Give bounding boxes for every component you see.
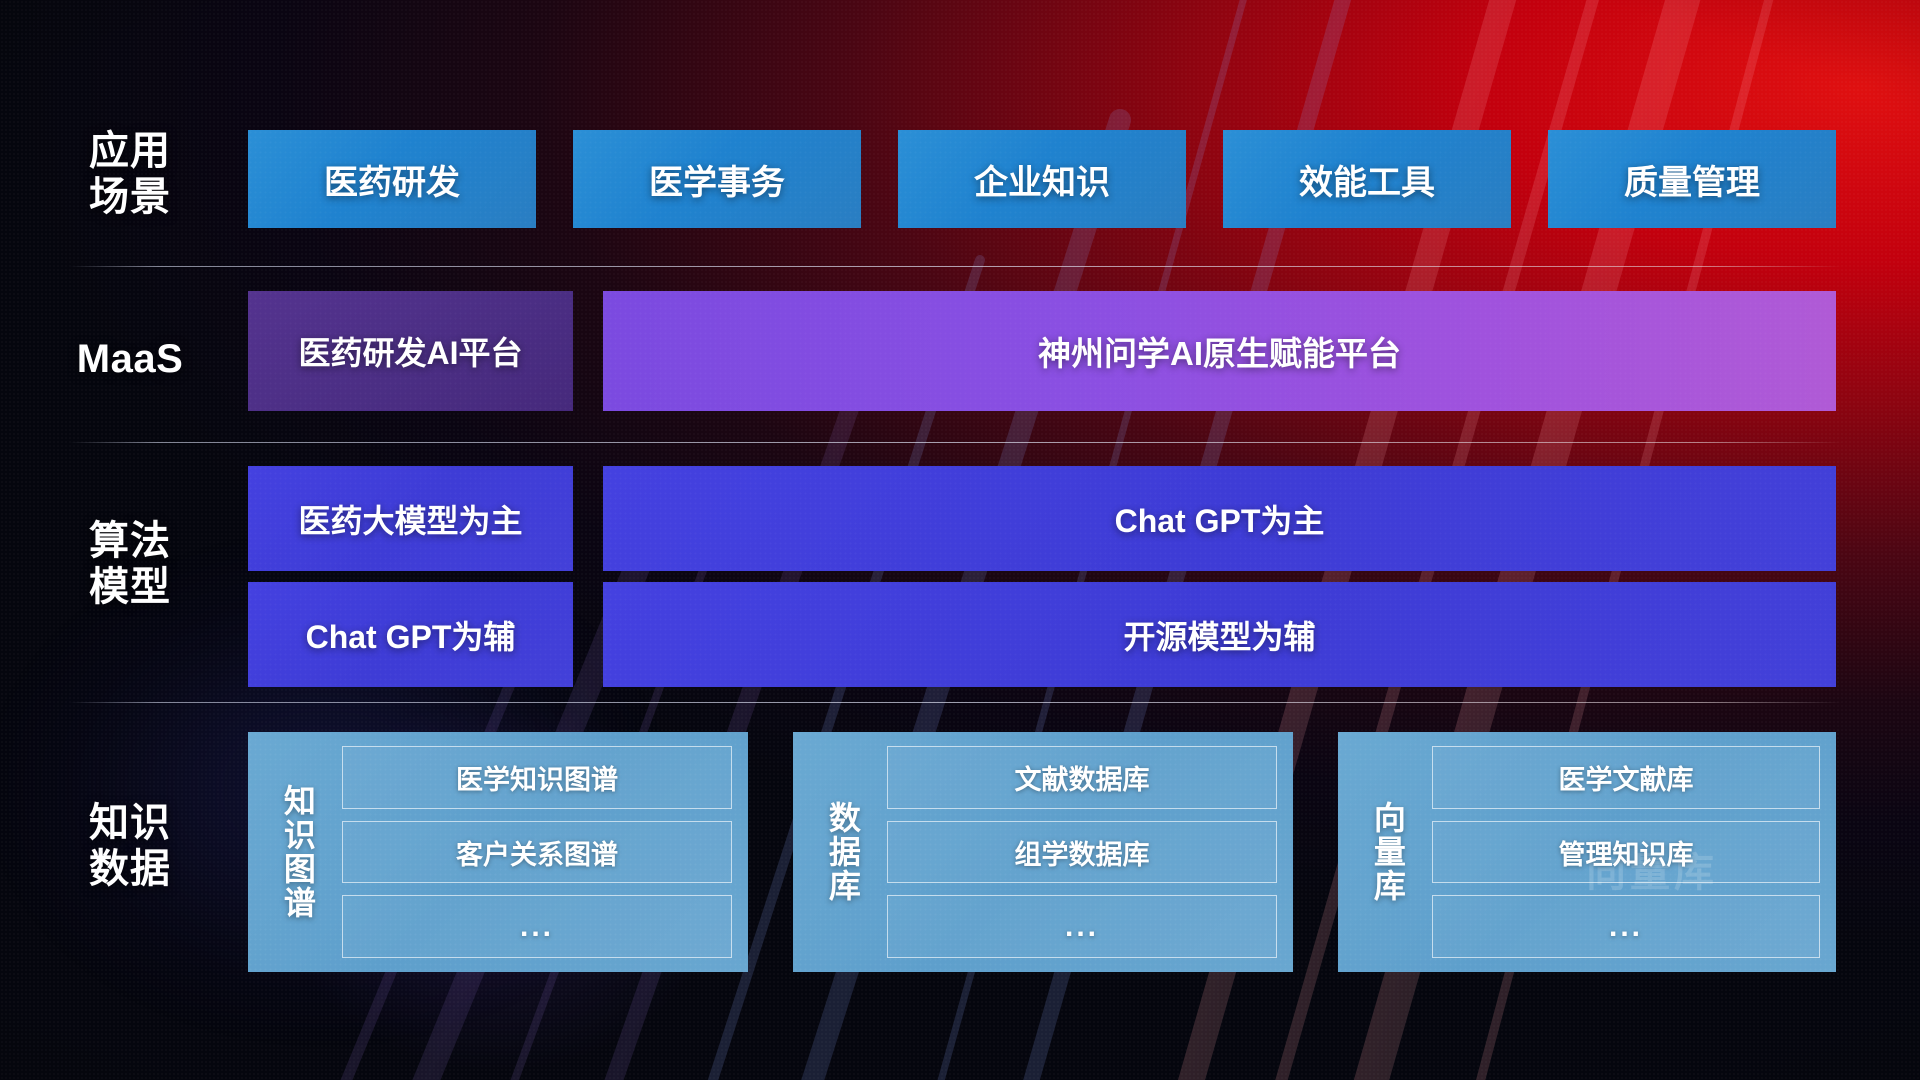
app-scenario-card-3[interactable]: 企业知识: [898, 130, 1186, 228]
app-scenario-card-1[interactable]: 医药研发: [248, 130, 536, 228]
divider-after-application-scenarios: [70, 266, 1842, 267]
algo-card-right-primary[interactable]: Chat GPT为主: [603, 466, 1836, 571]
algo-right-primary-label: Chat GPT为主: [1115, 496, 1325, 542]
maas-card-shenzhou-wenxue-platform[interactable]: 神州问学AI原生赋能平台: [603, 291, 1836, 411]
app-scenario-label-1: 医药研发: [324, 155, 460, 204]
knowledge-item-3-2[interactable]: 管理知识库: [1432, 821, 1820, 884]
row-label-knowledge-data: 知识 数据: [60, 800, 200, 893]
knowledge-group-database[interactable]: 数据库 文献数据库 组学数据库 ...: [793, 732, 1293, 972]
app-scenario-label-5: 质量管理: [1624, 155, 1760, 204]
knowledge-group-vector-store[interactable]: 向量库 向量库 医学文献库 管理知识库 ...: [1338, 732, 1836, 972]
knowledge-group-title-3: 向量库: [1354, 746, 1420, 958]
app-scenario-label-2: 医学事务: [649, 155, 785, 204]
maas-right-label: 神州问学AI原生赋能平台: [1038, 327, 1401, 375]
algo-card-right-secondary[interactable]: 开源模型为辅: [603, 582, 1836, 687]
knowledge-group-knowledge-graph[interactable]: 知识图谱 医学知识图谱 客户关系图谱 ...: [248, 732, 748, 972]
divider-after-algorithm-models: [70, 702, 1842, 703]
architecture-diagram: 应用 场景 医药研发 医学事务 企业知识 效能工具 质量管理 MaaS 医药研发…: [0, 0, 1920, 1080]
algo-left-primary-label: 医药大模型为主: [298, 496, 522, 542]
knowledge-item-1-1[interactable]: 医学知识图谱: [342, 746, 732, 809]
app-scenario-card-5[interactable]: 质量管理: [1548, 130, 1836, 228]
knowledge-group-title-1: 知识图谱: [264, 746, 330, 958]
knowledge-item-2-3[interactable]: ...: [887, 895, 1277, 958]
app-scenario-label-4: 效能工具: [1299, 155, 1435, 204]
row-label-application-scenarios: 应用 场景: [60, 128, 200, 221]
algo-card-left-primary[interactable]: 医药大模型为主: [248, 466, 573, 571]
knowledge-item-2-2[interactable]: 组学数据库: [887, 821, 1277, 884]
knowledge-item-1-3[interactable]: ...: [342, 895, 732, 958]
maas-card-medical-ai-platform[interactable]: 医药研发AI平台: [248, 291, 573, 411]
app-scenario-label-3: 企业知识: [974, 155, 1110, 204]
knowledge-item-3-1[interactable]: 医学文献库: [1432, 746, 1820, 809]
knowledge-group-items-3: 医学文献库 管理知识库 ...: [1420, 746, 1820, 958]
knowledge-group-title-2: 数据库: [809, 746, 875, 958]
knowledge-item-2-1[interactable]: 文献数据库: [887, 746, 1277, 809]
algo-card-left-secondary[interactable]: Chat GPT为辅: [248, 582, 573, 687]
row-label-algorithm-models: 算法 模型: [60, 518, 200, 611]
algo-right-secondary-label: 开源模型为辅: [1123, 612, 1315, 658]
knowledge-item-1-2[interactable]: 客户关系图谱: [342, 821, 732, 884]
app-scenario-card-2[interactable]: 医学事务: [573, 130, 861, 228]
divider-after-maas: [70, 442, 1842, 443]
algo-left-secondary-label: Chat GPT为辅: [306, 612, 516, 658]
knowledge-group-items-1: 医学知识图谱 客户关系图谱 ...: [330, 746, 732, 958]
row-label-maas: MaaS: [60, 336, 200, 382]
knowledge-item-3-3[interactable]: ...: [1432, 895, 1820, 958]
maas-left-label: 医药研发AI平台: [298, 328, 522, 374]
knowledge-group-items-2: 文献数据库 组学数据库 ...: [875, 746, 1277, 958]
app-scenario-card-4[interactable]: 效能工具: [1223, 130, 1511, 228]
